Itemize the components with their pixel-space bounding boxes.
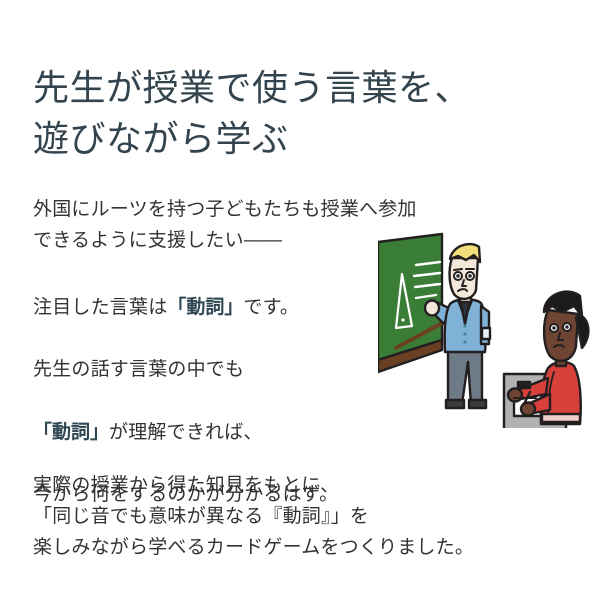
page-title: 先生が授業で使う言葉を、 遊びながら学ぶ [33,62,553,164]
closing-paragraph: 実際の授業から得た知見をもとに、 「同じ音でも意味が異なる『動詞』」を 楽しみな… [33,471,578,563]
middle-line-3: 「動詞」が理解できれば、 [33,418,393,449]
keyword-verb-2: 「動詞」 [33,422,109,443]
middle-line-2: 先生の話す言葉の中でも [33,355,393,386]
middle-line-3-after: が理解できれば、 [109,422,263,443]
teacher-and-student-illustration [378,232,600,428]
middle-line-1-before: 注目した言葉は [33,297,167,318]
middle-line-1-after: です。 [243,297,299,318]
keyword-verb-1: 「動詞」 [167,297,243,318]
infographic-page: 先生が授業で使う言葉を、 遊びながら学ぶ 外国にルーツを持つ子どもたちも授業へ参… [0,0,600,600]
middle-line-1: 注目した言葉は「動詞」です。 [33,293,393,324]
